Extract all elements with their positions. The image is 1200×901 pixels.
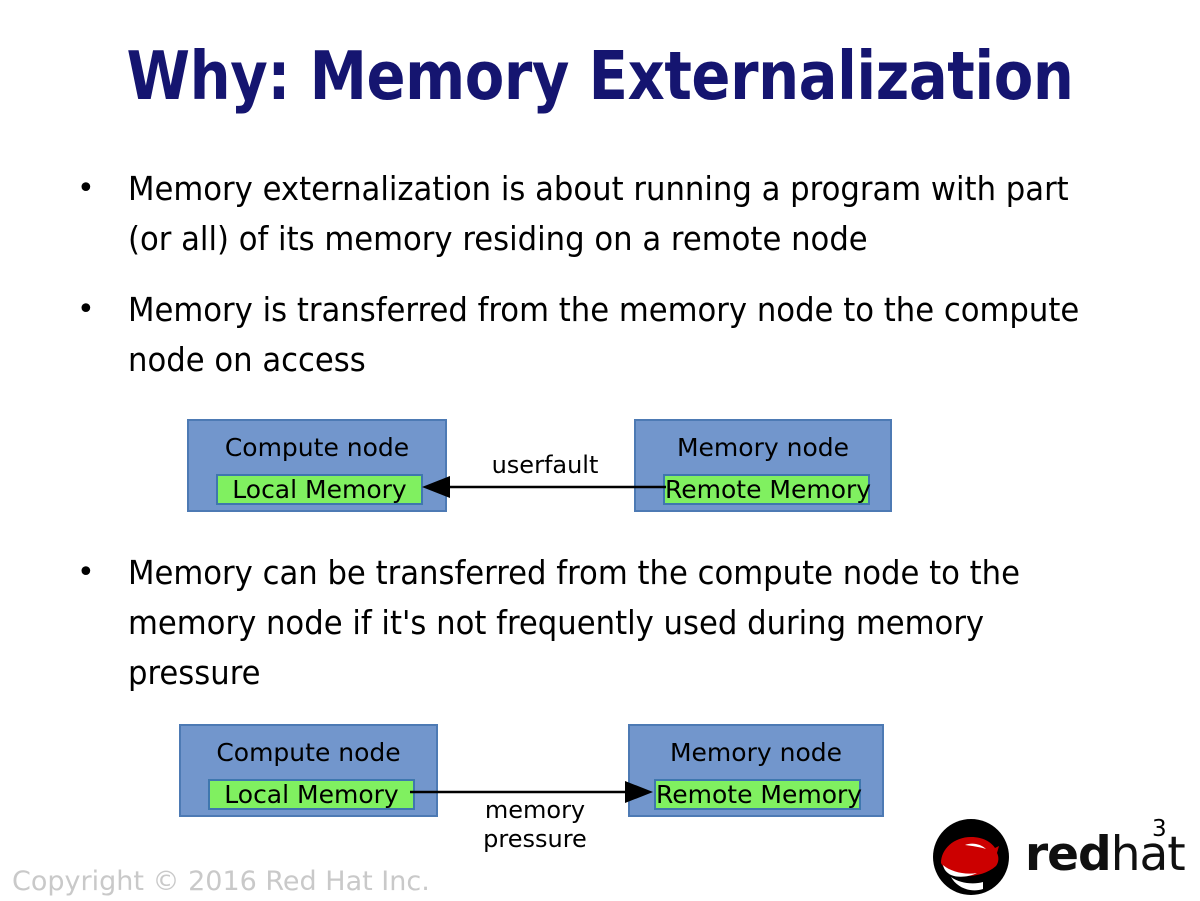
slide-canvas: Why: Memory Externalization • Memory ext… — [0, 0, 1200, 901]
compute-node-title: Compute node — [181, 738, 436, 768]
remote-memory-box: Remote Memory — [654, 779, 861, 810]
page-title: Why: Memory Externalization — [84, 36, 1116, 116]
bullet-text: Memory is transferred from the memory no… — [128, 285, 1104, 385]
bullet-text: Memory can be transferred from the compu… — [128, 548, 1104, 698]
compute-node-title: Compute node — [189, 433, 445, 463]
memory-node-box-1: Memory node Remote Memory — [634, 419, 892, 512]
copyright-notice: Copyright © 2016 Red Hat Inc. — [12, 865, 430, 898]
bullet-marker: • — [77, 164, 111, 214]
bullet-text: Memory externalization is about running … — [128, 164, 1104, 264]
memory-node-title: Memory node — [630, 738, 882, 768]
redhat-wordmark: redhat — [1025, 828, 1185, 882]
redhat-word-hat: hat — [1111, 827, 1185, 882]
bullet-marker: • — [77, 285, 111, 335]
userfault-arrow — [418, 472, 668, 504]
redhat-word-red: red — [1025, 827, 1111, 882]
memory-pressure-label-line2: pressure — [410, 825, 660, 854]
bullet-marker: • — [77, 548, 111, 598]
bullet-item-3: • Memory can be transferred from the com… — [77, 548, 1177, 698]
memory-node-box-2: Memory node Remote Memory — [628, 724, 884, 817]
compute-node-box-1: Compute node Local Memory — [187, 419, 447, 512]
local-memory-box: Local Memory — [216, 474, 423, 505]
local-memory-box: Local Memory — [208, 779, 415, 810]
compute-node-box-2: Compute node Local Memory — [179, 724, 438, 817]
bullet-item-2: • Memory is transferred from the memory … — [77, 285, 1177, 385]
bullet-item-1: • Memory externalization is about runnin… — [77, 164, 1177, 264]
memory-node-title: Memory node — [636, 433, 890, 463]
remote-memory-box: Remote Memory — [663, 474, 870, 505]
memory-pressure-label-line1: memory — [410, 796, 660, 825]
